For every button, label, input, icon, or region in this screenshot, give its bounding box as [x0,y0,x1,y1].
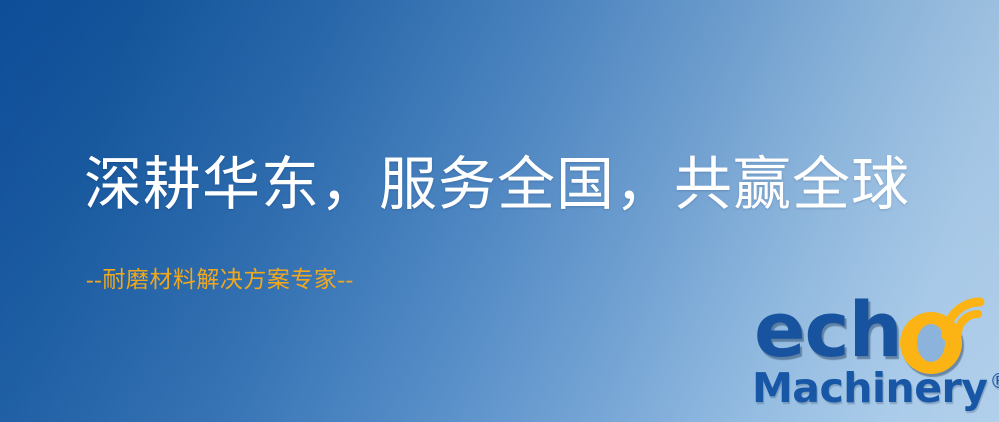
logo-brand-machinery: Machinery® [752,368,999,409]
hero-banner: 深耕华东，服务全国，共赢全球 --耐磨材料解决方案专家-- ech Machin [0,0,999,422]
logo-machinery-text: Machinery [752,364,987,412]
hero-headline: 深耕华东，服务全国，共赢全球 [84,156,910,214]
hero-subtitle: --耐磨材料解决方案专家-- [86,268,354,291]
logo-brand-echo-text: ech [754,292,902,368]
company-logo[interactable]: ech Machinery® [752,296,997,418]
echo-wave-icon [938,290,999,352]
registered-trademark-icon: ® [989,369,999,393]
